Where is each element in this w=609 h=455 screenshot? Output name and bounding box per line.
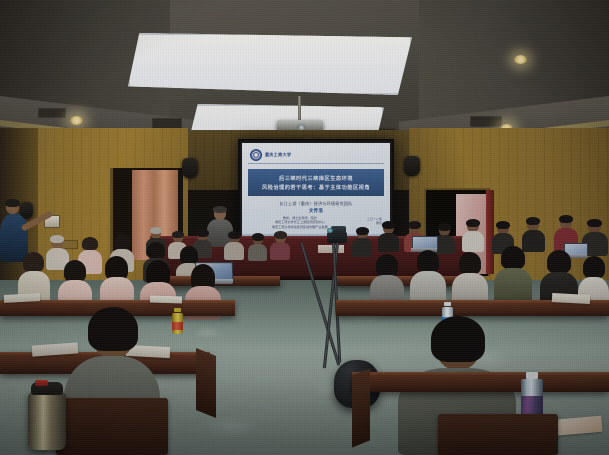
handout-paper[interactable] (552, 293, 590, 304)
ceiling-vent (470, 116, 502, 127)
camera-lens-icon (327, 228, 333, 233)
wall-speaker-right (404, 156, 420, 176)
slide-presenter-affiliation: 教授、博士生导师、院长 重庆工商大学长江上游经济研究中心 重庆工商大学成渝经济区… (272, 216, 328, 229)
university-seal-icon (250, 149, 262, 161)
podium-name-card (318, 245, 344, 253)
thermos-flask[interactable] (28, 378, 66, 450)
audience-member (224, 232, 244, 259)
hair (252, 233, 264, 241)
hair (438, 223, 451, 231)
audience-member (352, 228, 372, 256)
audience-member (378, 222, 399, 252)
chair-back (56, 398, 168, 455)
thermos-pump-button[interactable] (35, 380, 48, 386)
desk-side-panel (196, 348, 216, 418)
slide-title-line-2: 风险治理的若干思考：基于主体功能区视角 (262, 184, 370, 191)
torso (248, 244, 267, 261)
hair (150, 227, 162, 234)
hair (356, 227, 369, 235)
ceiling-vent (38, 108, 66, 118)
torso (352, 238, 372, 257)
projector-mount-pole (298, 96, 301, 122)
hair (587, 219, 602, 227)
hair (196, 229, 209, 237)
hair (408, 221, 421, 229)
audience-member (522, 218, 545, 252)
slide-divider (248, 163, 384, 164)
hair (172, 231, 184, 238)
bottle-label (172, 322, 183, 330)
hair (50, 235, 64, 243)
hair (88, 307, 138, 351)
torso (270, 242, 290, 260)
hair (466, 219, 480, 227)
hair (147, 242, 165, 259)
torso (378, 233, 399, 252)
video-camera[interactable] (331, 226, 346, 234)
hair (376, 254, 398, 276)
desk-side-panel (352, 368, 370, 447)
hair (547, 250, 571, 273)
hair (559, 215, 573, 223)
wall-speaker-left (182, 158, 198, 178)
handout-paper[interactable] (150, 295, 182, 303)
hair (274, 231, 287, 239)
side-presenter-hair (5, 199, 20, 207)
hair (501, 246, 525, 269)
torso (462, 231, 484, 252)
downlight-icon (70, 116, 83, 125)
audience-member (462, 220, 484, 252)
desk-row-foreground (352, 372, 609, 392)
bottle-cap (526, 372, 538, 379)
hair (382, 221, 395, 229)
slide-title-band: 后三峡时代三峡库区生态环境 风险治理的若干思考：基于主体功能区视角 (248, 169, 384, 196)
audience-member (270, 232, 290, 259)
hair (228, 231, 241, 239)
hair (417, 250, 439, 272)
hair (82, 237, 98, 250)
desk-surface (352, 372, 609, 376)
side-presenter (0, 200, 30, 262)
audience-member (248, 234, 267, 260)
slide-presenter-name: 文传浩 (242, 208, 390, 214)
slide-title-line-1: 后三峡时代三峡库区生态环境 (279, 175, 353, 182)
hair (526, 217, 540, 225)
bottle-cap (444, 302, 450, 306)
large-ceiling-light-panel (128, 33, 412, 95)
hair (64, 260, 86, 282)
slide-logo: 重庆工商大学 (250, 148, 382, 162)
hair (496, 221, 510, 229)
slide-team-name: 长江上游（重庆）经济与环境研究团队 (242, 201, 390, 207)
bottle-cap (174, 308, 180, 312)
hair (459, 252, 481, 274)
downlight-icon (514, 55, 527, 64)
thermos-body (28, 392, 66, 450)
audience-member (494, 248, 532, 306)
hair (23, 252, 44, 272)
slide-meta-line: 重庆工商大学成渝经济区城市群产业发展 (272, 225, 328, 229)
slide-logo-text: 重庆工商大学 (265, 152, 291, 158)
torso (224, 242, 244, 260)
hair (431, 316, 485, 362)
panel-diffuser (130, 35, 410, 93)
chair-back (438, 414, 558, 455)
hair (114, 234, 130, 249)
bottled-tea[interactable] (172, 308, 183, 334)
lecture-hall-photo: 重庆工商大学 后三峡时代三峡库区生态环境 风险治理的若干思考：基于主体功能区视角… (0, 0, 609, 455)
presenter-hair (213, 206, 227, 213)
hair (583, 256, 605, 278)
